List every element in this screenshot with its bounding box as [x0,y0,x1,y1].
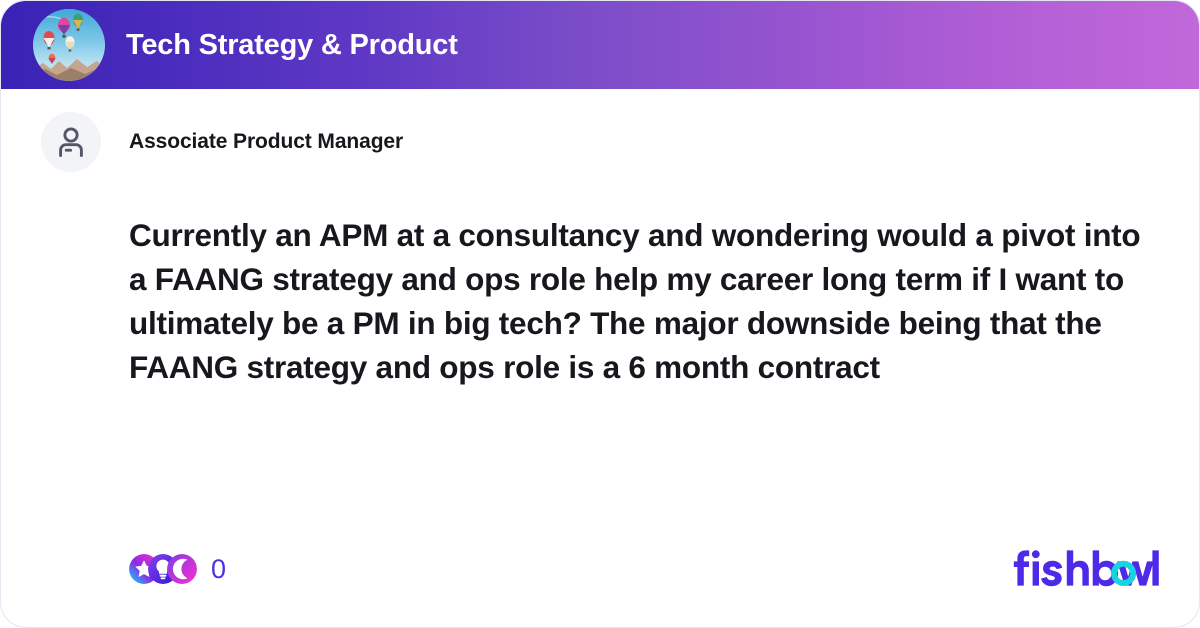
smart-reaction-icon[interactable] [167,554,197,584]
reaction-count: 0 [211,556,226,583]
author-row: Associate Product Manager [41,111,1159,173]
post-text: Currently an APM at a consultancy and wo… [129,213,1149,389]
fishbowl-logo [1011,546,1159,592]
fishbowl-wordmark-icon [1011,546,1159,592]
bowl-title: Tech Strategy & Product [126,29,458,62]
post-body: Associate Product Manager Currently an A… [1,89,1199,389]
bowl-avatar[interactable] [33,9,105,81]
post-footer: 0 [1,543,1199,595]
author-title: Associate Product Manager [129,130,403,154]
hot-air-balloons-photo [33,9,105,81]
fishbowl-post-card: Tech Strategy & Product Associate Produc… [0,0,1200,628]
reactions-group[interactable]: 0 [129,554,226,584]
anonymous-person-icon [54,125,88,159]
reaction-icon-stack[interactable] [129,554,197,584]
bowl-header[interactable]: Tech Strategy & Product [1,1,1199,89]
author-avatar[interactable] [41,112,101,172]
